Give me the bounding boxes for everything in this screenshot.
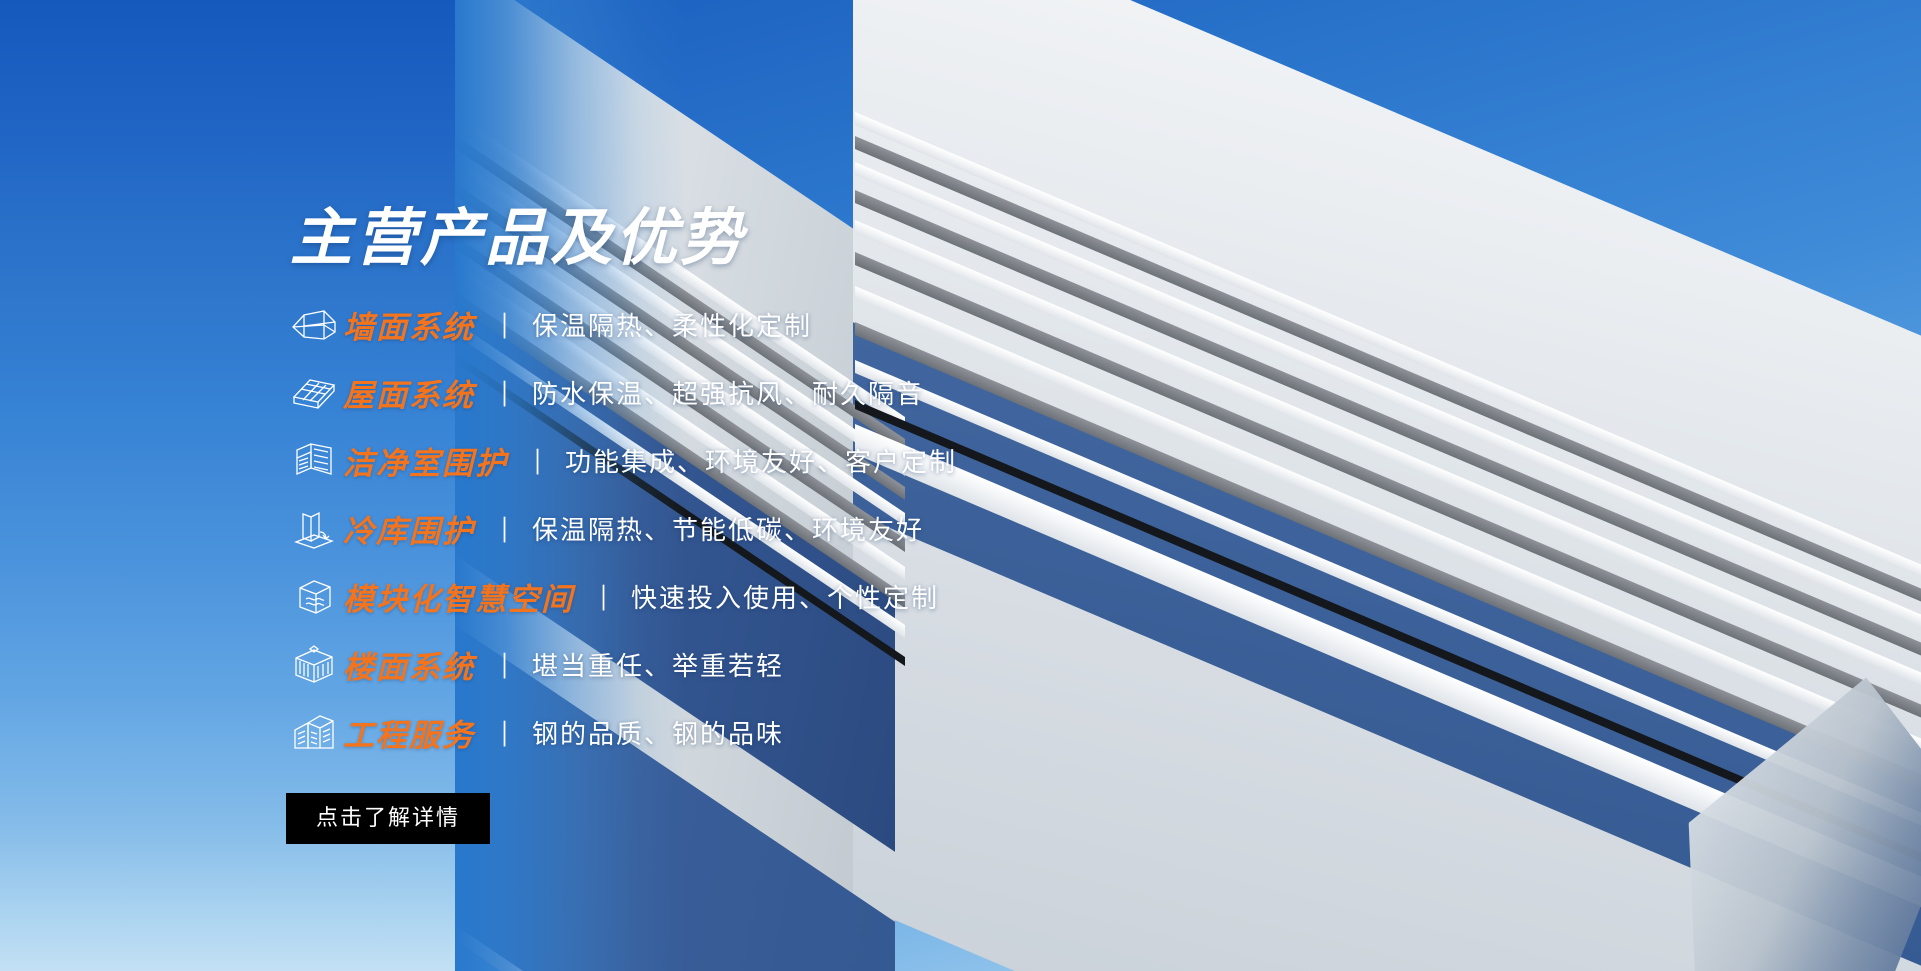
feature-desc: 保温隔热、节能低碳、环境友好: [532, 510, 924, 547]
feature-separator: 丨: [497, 713, 512, 752]
feature-title: 屋面系统: [343, 370, 475, 415]
feature-item-engineering-service[interactable]: 工程服务 丨 钢的品质、钢的品味: [285, 706, 1105, 759]
feature-item-cold-storage-envelope[interactable]: 冷库围护 丨 保温隔热、节能低碳、环境友好: [285, 502, 1105, 555]
modular-cube-icon: [285, 573, 343, 621]
feature-desc: 功能集成、环境友好、客户定制: [565, 442, 957, 479]
learn-more-button[interactable]: 点击了解详情: [286, 793, 490, 844]
feature-desc: 快速投入使用、个性定制: [631, 578, 939, 615]
feature-separator: 丨: [497, 509, 512, 548]
feature-desc: 钢的品质、钢的品味: [532, 714, 784, 751]
feature-desc: 防水保温、超强抗风、耐久隔音: [532, 374, 924, 411]
feature-title: 模块化智慧空间: [343, 574, 574, 619]
feature-desc: 保温隔热、柔性化定制: [532, 306, 812, 343]
feature-item-wall-system[interactable]: 墙面系统 丨 保温隔热、柔性化定制: [285, 298, 1105, 351]
feature-item-roof-system[interactable]: 屋面系统 丨 防水保温、超强抗风、耐久隔音: [285, 366, 1105, 419]
feature-separator: 丨: [497, 305, 512, 344]
feature-item-modular-smart-space[interactable]: 模块化智慧空间 丨 快速投入使用、个性定制: [285, 570, 1105, 623]
feature-title: 楼面系统: [343, 642, 475, 687]
feature-separator: 丨: [497, 373, 512, 412]
feature-title: 墙面系统: [343, 302, 475, 347]
feature-separator: 丨: [530, 441, 545, 480]
engineering-service-icon: [285, 709, 343, 757]
page-title: 主营产品及优势: [290, 208, 745, 270]
feature-separator: 丨: [497, 645, 512, 684]
hero-banner: 主营产品及优势 墙面系统 丨 保温隔热、柔性化定制: [0, 0, 1921, 971]
hero-content: 主营产品及优势 墙面系统 丨 保温隔热、柔性化定制: [0, 0, 1100, 971]
feature-list: 墙面系统 丨 保温隔热、柔性化定制 屋面系统 丨 防水保温、超强抗风、耐久隔音: [285, 298, 1105, 774]
feature-item-cleanroom-envelope[interactable]: 洁净室围护 丨 功能集成、环境友好、客户定制: [285, 434, 1105, 487]
cleanroom-building-icon: [285, 437, 343, 485]
wall-frame-icon: [285, 301, 343, 349]
feature-title: 工程服务: [343, 710, 475, 755]
roof-panel-icon: [285, 369, 343, 417]
feature-title: 冷库围护: [343, 506, 475, 551]
floor-system-icon: [285, 641, 343, 689]
feature-item-floor-system[interactable]: 楼面系统 丨 堪当重任、举重若轻: [285, 638, 1105, 691]
cold-storage-icon: [285, 505, 343, 553]
feature-title: 洁净室围护: [343, 438, 508, 483]
feature-desc: 堪当重任、举重若轻: [532, 646, 784, 683]
feature-separator: 丨: [596, 577, 611, 616]
